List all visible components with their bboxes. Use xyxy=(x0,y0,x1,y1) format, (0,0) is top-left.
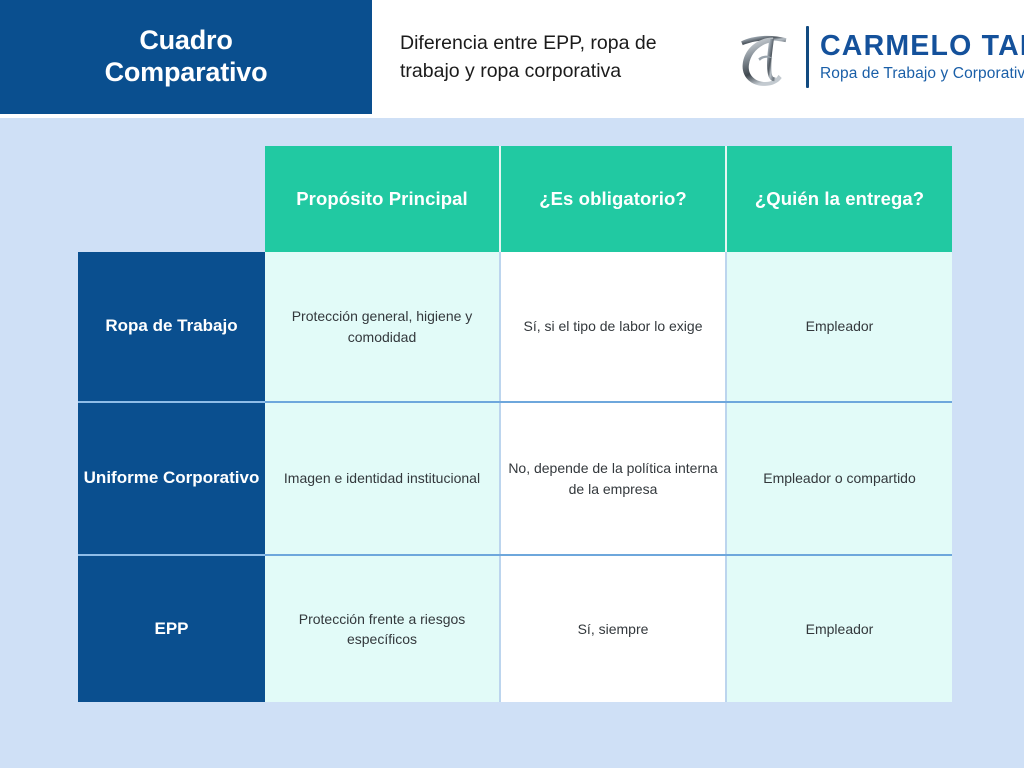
cell-ropa-entrega: Empleador xyxy=(726,252,952,402)
logo-brand-name: CARMELO TALA xyxy=(820,32,1024,61)
brand-logo[interactable]: CARMELO TALA Ropa de Trabajo y Corporati… xyxy=(724,0,1024,114)
subtitle-container: Diferencia entre EPP, ropa de trabajo y … xyxy=(372,0,724,114)
table-corner-cell xyxy=(78,146,265,252)
comparison-table: Propósito Principal ¿Es obligatorio? ¿Qu… xyxy=(78,146,952,702)
column-header-entrega: ¿Quién la entrega? xyxy=(726,146,952,252)
title-plate: Cuadro Comparativo xyxy=(0,0,372,114)
cell-uniforme-proposito: Imagen e identidad institucional xyxy=(265,402,500,555)
row-header-uniforme-corporativo: Uniforme Corporativo xyxy=(78,402,265,555)
cell-ropa-obligatorio: Sí, si el tipo de labor lo exige xyxy=(500,252,726,402)
table-row: EPP Protección frente a riesgos específi… xyxy=(78,555,952,702)
logo-divider-rule xyxy=(806,26,809,88)
cell-uniforme-obligatorio: No, depende de la política interna de la… xyxy=(500,402,726,555)
page-title-line2: Comparativo xyxy=(105,57,268,87)
cell-epp-entrega: Empleador xyxy=(726,555,952,702)
table-row: Uniforme Corporativo Imagen e identidad … xyxy=(78,402,952,555)
column-header-proposito: Propósito Principal xyxy=(265,146,500,252)
column-header-obligatorio: ¿Es obligatorio? xyxy=(500,146,726,252)
table-row: Ropa de Trabajo Protección general, higi… xyxy=(78,252,952,402)
ct-monogram-icon xyxy=(724,18,802,96)
table-header-row: Propósito Principal ¿Es obligatorio? ¿Qu… xyxy=(78,146,952,252)
logo-text-block: CARMELO TALA Ropa de Trabajo y Corporati… xyxy=(820,32,1024,83)
row-header-epp: EPP xyxy=(78,555,265,702)
logo-tagline: Ropa de Trabajo y Corporativa xyxy=(820,65,1024,82)
cell-epp-obligatorio: Sí, siempre xyxy=(500,555,726,702)
cell-ropa-proposito: Protección general, higiene y comodidad xyxy=(265,252,500,402)
slide-canvas: Cuadro Comparativo Diferencia entre EPP,… xyxy=(0,0,1024,768)
page-title-line1: Cuadro xyxy=(139,25,232,55)
page-header: Cuadro Comparativo Diferencia entre EPP,… xyxy=(0,0,1024,118)
comparison-table-container: Propósito Principal ¿Es obligatorio? ¿Qu… xyxy=(78,146,952,702)
cell-uniforme-entrega: Empleador o compartido xyxy=(726,402,952,555)
page-subtitle: Diferencia entre EPP, ropa de trabajo y … xyxy=(400,29,700,86)
row-header-ropa-de-trabajo: Ropa de Trabajo xyxy=(78,252,265,402)
page-title: Cuadro Comparativo xyxy=(105,25,268,89)
cell-epp-proposito: Protección frente a riesgos específicos xyxy=(265,555,500,702)
